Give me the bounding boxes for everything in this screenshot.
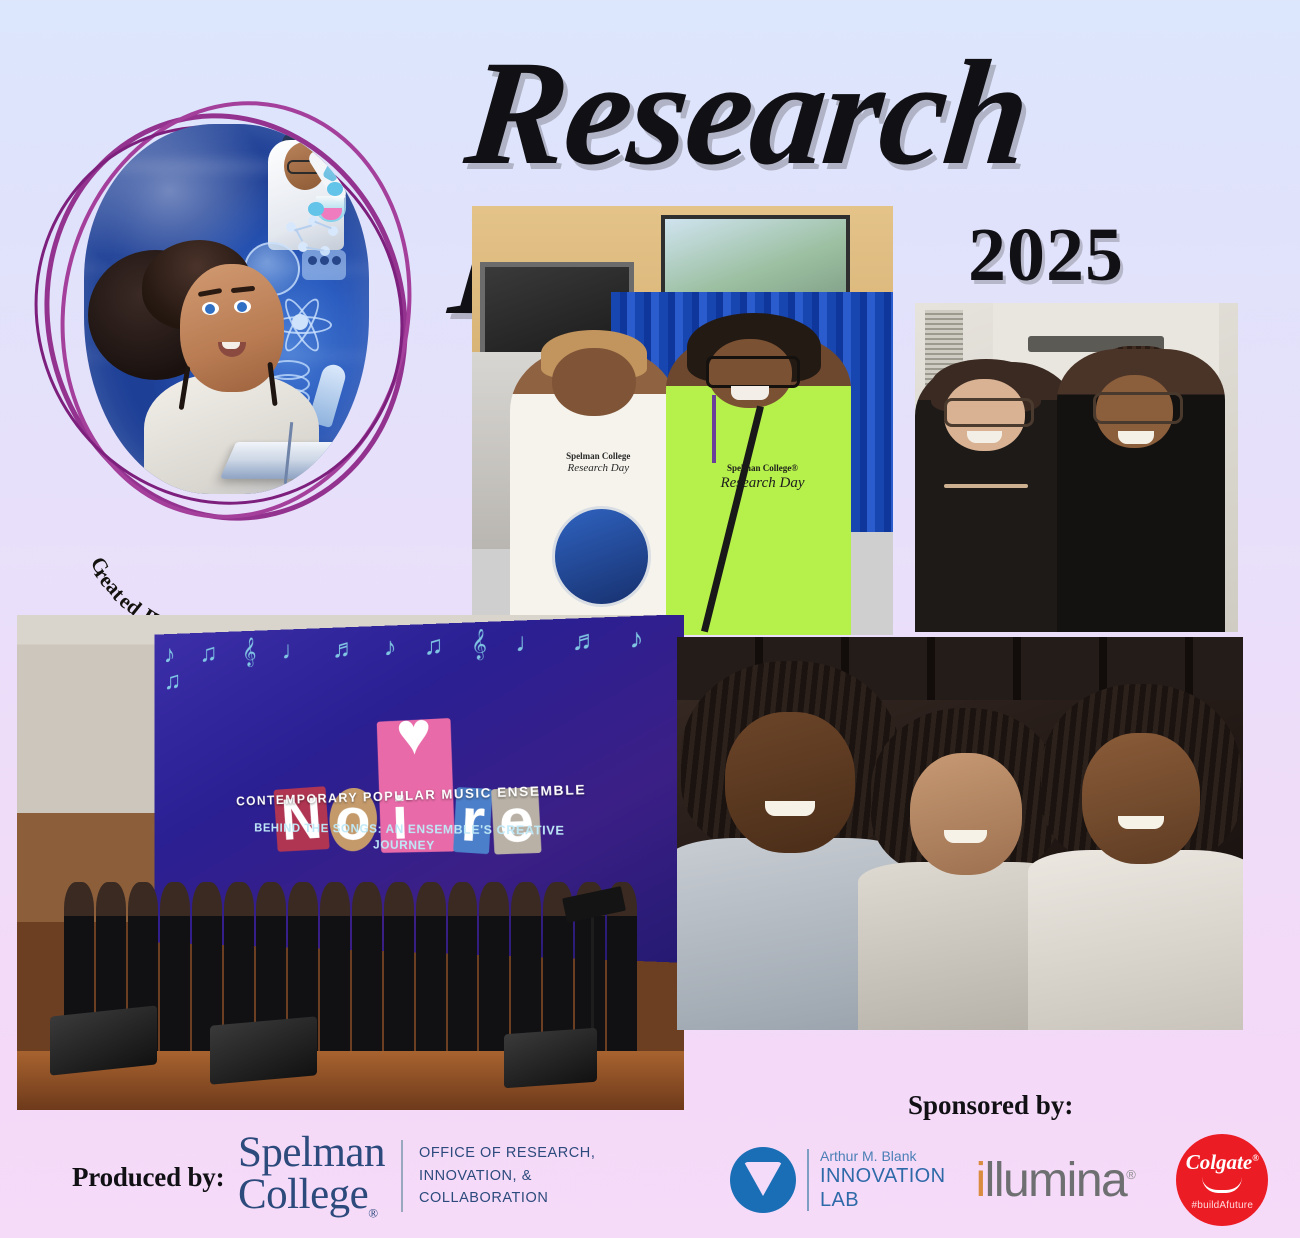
- photo-three-students-audience: [677, 637, 1243, 1030]
- choir-member: [384, 882, 414, 1070]
- glove-icon-2: [308, 202, 324, 216]
- photo-two-women-portrait: [915, 303, 1238, 632]
- colgate-wordmark: Colgate®: [1186, 1150, 1259, 1175]
- sponsor-arthur-m-blank-innovation-lab: Arthur M. Blank INNOVATION LAB: [730, 1147, 945, 1213]
- stage-monitor-speaker: [50, 1005, 157, 1076]
- photo-two-attendees-research-day-shirts: Spelman College Research Day Spelman Col…: [472, 206, 893, 635]
- colgate-registered: ®: [1252, 1153, 1259, 1163]
- choir-member: [416, 882, 446, 1070]
- illumina-registered: ®: [1126, 1167, 1134, 1182]
- heart-icon: ♥: [389, 700, 439, 766]
- stage-monitor-speaker: [504, 1028, 597, 1089]
- choir-member: [160, 882, 190, 1070]
- student3-smile: [1118, 816, 1163, 830]
- shirt-brand-right: Spelman College®: [683, 463, 843, 474]
- sponsored-by-label: Sponsored by:: [908, 1090, 1073, 1121]
- photo-noire-ensemble-performance: ♪ ♫ 𝄞 ♩ ♬ ♪ ♫ 𝄞 ♩ ♬ ♪ ♫ N o ♥ i r e CONT…: [17, 615, 684, 1110]
- girl-iris-left: [205, 304, 215, 314]
- colgate-smile-icon: [1202, 1177, 1242, 1193]
- blank-line-3: LAB: [820, 1188, 945, 1212]
- photo-person1-face: [552, 348, 636, 417]
- music-stand: [591, 902, 594, 1041]
- photo-person2-lanyard: [712, 395, 716, 464]
- sponsor-illumina: illumina®: [975, 1153, 1134, 1208]
- student2-smile: [944, 830, 987, 843]
- student3-top: [1028, 850, 1243, 1030]
- produced-by-label: Produced by:: [72, 1162, 224, 1193]
- student1-face: [725, 712, 854, 852]
- title-year: 2025: [968, 212, 1124, 299]
- student3-face: [1082, 733, 1200, 864]
- illumina-rest: llumina: [985, 1154, 1127, 1207]
- shirt-graphic-left: [552, 506, 651, 606]
- logo-credit-arc: Created BY: Brittany Earl: [84, 512, 384, 598]
- sponsor-logos: Arthur M. Blank INNOVATION LAB illumina®…: [730, 1132, 1290, 1228]
- sponsor-colgate: Colgate® #buildAfuture: [1176, 1134, 1268, 1226]
- office-name: OFFICE OF RESEARCH, INNOVATION, & COLLAB…: [419, 1142, 595, 1209]
- shirt-text-left: Spelman College Research Day: [531, 451, 666, 476]
- photo-person2-smile: [731, 386, 769, 400]
- photo-woman1-smile: [967, 431, 1003, 443]
- blank-logo-divider: [807, 1149, 809, 1211]
- shirt-title-left: Research Day: [567, 462, 629, 474]
- photo-student-3: [1028, 684, 1243, 1030]
- choir-member: [448, 882, 478, 1070]
- blank-line-2: INNOVATION: [820, 1164, 945, 1188]
- glove-icon-1: [327, 182, 343, 196]
- research-day-logo: Created BY: Brittany Earl: [28, 78, 418, 548]
- blank-wordmark: Arthur M. Blank INNOVATION LAB: [820, 1148, 945, 1213]
- blank-triangle-icon: [730, 1147, 796, 1213]
- photo-woman2-glasses-icon: [1093, 392, 1183, 424]
- film-reel-icon: [302, 250, 346, 280]
- student2-face: [910, 753, 1022, 875]
- spelman-line-1: Spelman: [238, 1132, 385, 1174]
- logo-divider: [401, 1140, 403, 1212]
- choir-member: [320, 882, 350, 1070]
- photo-woman1-necklace: [944, 484, 1028, 488]
- girl-teeth: [222, 342, 240, 349]
- choir-member: [352, 882, 382, 1070]
- blank-line-1: Arthur M. Blank: [820, 1148, 945, 1165]
- photo-woman2-smile: [1118, 431, 1154, 444]
- noire-tagline: BEHIND THE SONGS: AN ENSEMBLE'S CREATIVE…: [226, 820, 597, 857]
- photo-person2-glasses-icon: [706, 356, 800, 388]
- photo-woman1-glasses-icon: [944, 398, 1034, 427]
- spelman-college-logo: Spelman College® OFFICE OF RESEARCH, INN…: [238, 1126, 628, 1226]
- girl-iris-right: [237, 302, 247, 312]
- stage-monitor-speaker: [210, 1016, 317, 1085]
- shirt-title-right: Research Day: [720, 475, 804, 491]
- shirt-text-right: Spelman College® Research Day: [683, 463, 843, 492]
- logo-orb-illustration: [84, 124, 369, 494]
- registered-mark: ®: [368, 1205, 377, 1220]
- student1-smile: [765, 801, 815, 816]
- spelman-wordmark: Spelman College®: [238, 1132, 385, 1220]
- spelman-line-2: College®: [238, 1174, 385, 1220]
- colgate-tagline: #buildAfuture: [1192, 1200, 1254, 1211]
- footer: Produced by: Spelman College® OFFICE OF …: [0, 1110, 1300, 1238]
- shirt-brand-left: Spelman College: [531, 451, 666, 462]
- illumina-i: i: [975, 1154, 984, 1207]
